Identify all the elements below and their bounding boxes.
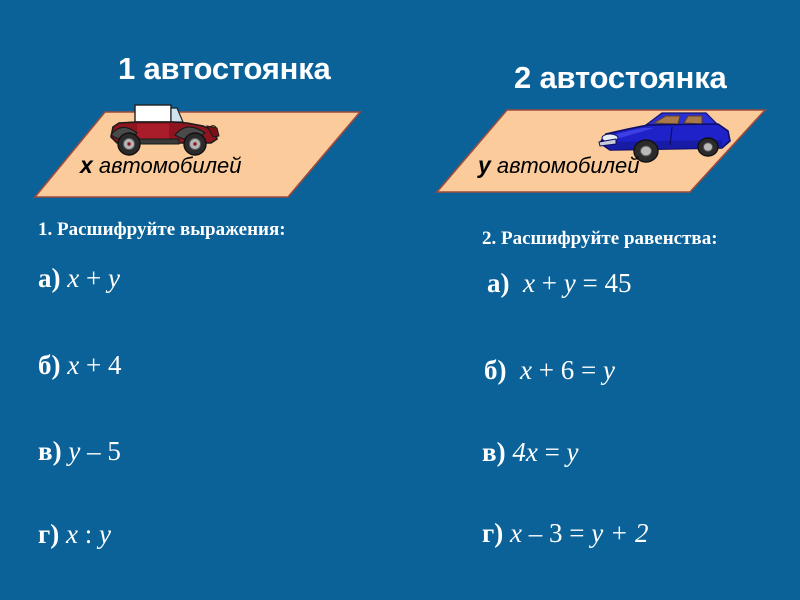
item-result: y bbox=[567, 437, 579, 467]
expression-item: а) x + y bbox=[38, 263, 120, 294]
item-operand-right: y bbox=[108, 263, 120, 293]
item-operand-left: x bbox=[510, 518, 522, 548]
item-operator: + bbox=[542, 268, 557, 298]
item-equals-sign: = bbox=[582, 268, 597, 298]
parking-lot-2-label: y автомобилей bbox=[478, 152, 640, 179]
item-operand-left: x bbox=[66, 519, 78, 549]
item-result: 45 bbox=[604, 268, 631, 298]
item-equals-sign: = bbox=[545, 437, 560, 467]
item-marker: в) bbox=[482, 437, 506, 467]
item-operator: + bbox=[86, 350, 101, 380]
item-operand-left: x bbox=[67, 350, 79, 380]
item-operand-right: y bbox=[99, 519, 111, 549]
item-marker: а) bbox=[487, 268, 510, 298]
parking-lot-1-label: x автомобилей bbox=[80, 152, 242, 179]
parking-lot-1-title: 1 автостоянка bbox=[118, 51, 331, 87]
item-operator: : bbox=[85, 519, 93, 549]
variable-y: y bbox=[478, 152, 491, 178]
slide-canvas: 1 автостоянка bbox=[0, 0, 800, 600]
item-operand-right: 5 bbox=[107, 436, 121, 466]
equation-item: а) x + y = 45 bbox=[487, 268, 631, 299]
item-operand-right: 6 bbox=[561, 355, 575, 385]
item-operand-left: x bbox=[520, 355, 532, 385]
item-operand-left: x bbox=[523, 268, 535, 298]
expression-item: б) x + 4 bbox=[38, 350, 121, 381]
item-operand-left: 4x bbox=[512, 437, 537, 467]
item-operand-left: x bbox=[67, 263, 79, 293]
item-operator: + bbox=[539, 355, 554, 385]
item-marker: а) bbox=[38, 263, 61, 293]
parking-lot-2-title: 2 автостоянка bbox=[514, 60, 727, 96]
item-operand-left: y bbox=[68, 436, 80, 466]
expression-item: г) x : y bbox=[38, 519, 111, 550]
task-1-heading: 1. Расшифруйте выражения: bbox=[38, 219, 286, 241]
item-operator: – bbox=[529, 518, 543, 548]
item-result: y + 2 bbox=[591, 518, 648, 548]
item-equals-sign: = bbox=[581, 355, 596, 385]
item-marker: б) bbox=[38, 350, 61, 380]
item-operand-right: 4 bbox=[108, 350, 122, 380]
red-vintage-convertible-icon bbox=[103, 103, 228, 159]
item-result: y bbox=[603, 355, 615, 385]
item-marker: г) bbox=[38, 519, 59, 549]
item-operand-right: 3 bbox=[549, 518, 563, 548]
item-operator: – bbox=[87, 436, 101, 466]
parking-lot-2-label-text: автомобилей bbox=[491, 153, 640, 178]
item-marker: г) bbox=[482, 518, 503, 548]
item-operator: + bbox=[86, 263, 101, 293]
item-operand-right: y bbox=[564, 268, 576, 298]
equation-item: б) x + 6 = y bbox=[484, 355, 615, 386]
item-marker: б) bbox=[484, 355, 507, 385]
variable-x: x bbox=[80, 152, 93, 178]
equation-item: в) 4x = y bbox=[482, 437, 579, 468]
expression-item: в) y – 5 bbox=[38, 436, 121, 467]
item-marker: в) bbox=[38, 436, 62, 466]
task-2-heading: 2. Расшифруйте равенства: bbox=[482, 228, 718, 250]
parking-lot-1-label-text: автомобилей bbox=[93, 153, 242, 178]
equation-item: г) x – 3 = y + 2 bbox=[482, 518, 648, 549]
item-equals-sign: = bbox=[569, 518, 584, 548]
